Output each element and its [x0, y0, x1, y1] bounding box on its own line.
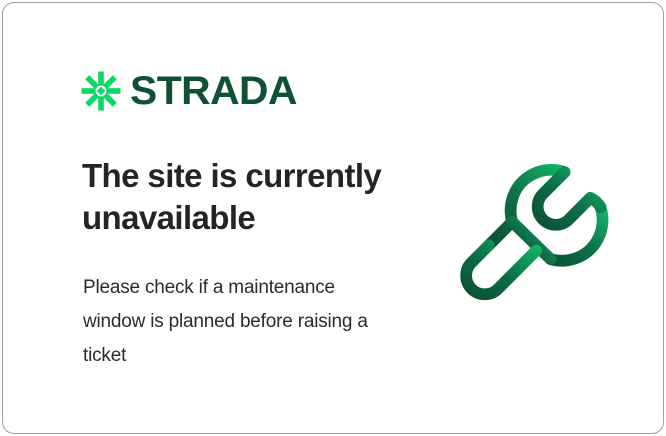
page-description: Please check if a maintenance window is … [83, 271, 393, 373]
strada-asterisk-icon [81, 71, 121, 111]
brand-wordmark: STRADA [130, 71, 297, 111]
page-title: The site is currently unavailable [82, 155, 442, 239]
wrench-icon [458, 158, 616, 310]
error-page: STRADA The site is currently unavailable… [0, 0, 666, 436]
brand-lockup: STRADA [81, 71, 294, 111]
error-card: STRADA The site is currently unavailable… [2, 2, 664, 434]
